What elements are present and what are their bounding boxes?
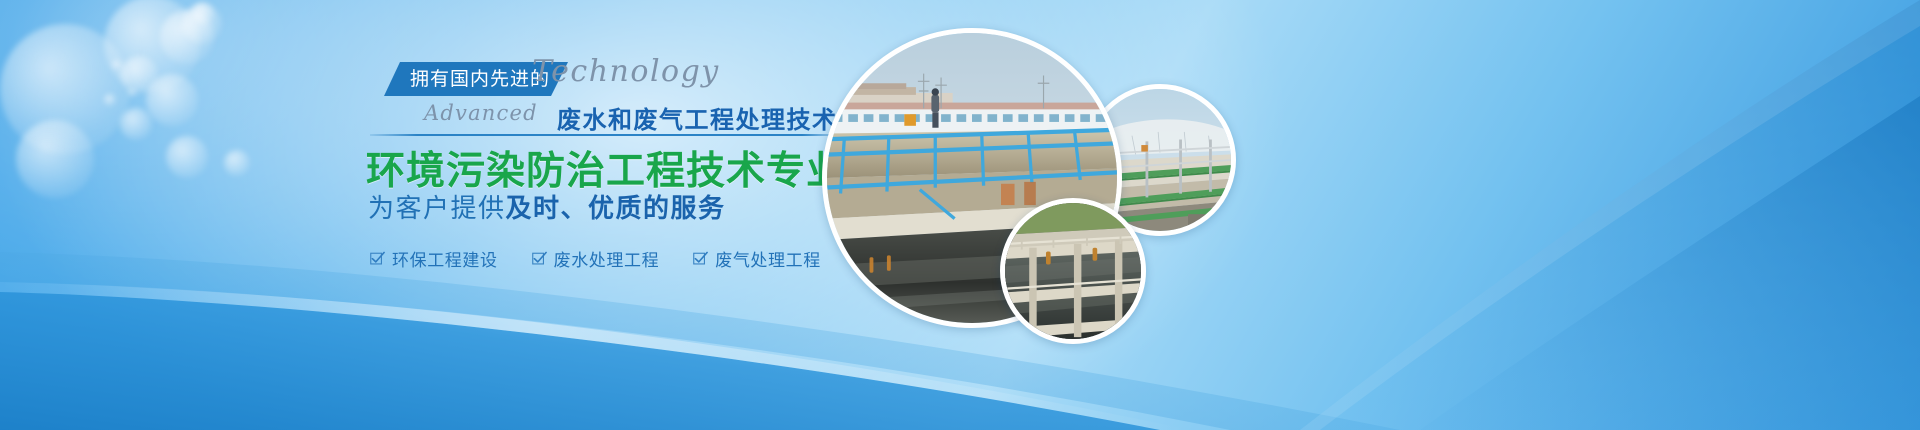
technology-script-word: Technology: [532, 54, 720, 89]
bokeh-bubble: [112, 60, 122, 70]
advanced-row: Advanced 废水和废气工程处理技术: [352, 98, 852, 134]
checkbox-check-icon: [532, 251, 547, 266]
promo-banner: 拥有国内先进的 Technology Advanced 废水和废气工程处理技术 …: [0, 0, 1920, 430]
feature-item-label: 环保工程建设: [392, 246, 498, 271]
bokeh-bubble: [182, 4, 222, 44]
bokeh-bubble: [224, 150, 250, 176]
bokeh-bubble: [166, 136, 208, 178]
feature-item-2[interactable]: 废水处理工程: [532, 246, 660, 271]
bokeh-bubble: [146, 74, 198, 126]
feature-item-label: 废气处理工程: [715, 246, 821, 271]
bokeh-bubble: [120, 108, 152, 140]
subtitle-prefix: 为客户提供: [368, 194, 506, 224]
subtitle-emphasis: 及时、优质的服务: [506, 194, 726, 224]
checkbox-check-icon: [693, 251, 708, 266]
bokeh-bubble: [16, 120, 94, 198]
feature-item-3[interactable]: 废气处理工程: [693, 246, 821, 271]
bokeh-bubble: [120, 56, 158, 94]
bokeh-bubble: [128, 88, 137, 97]
bokeh-bubble: [160, 10, 214, 64]
aeration-photo-art: [1005, 203, 1141, 339]
aeration-tank-photo: [1000, 198, 1146, 344]
banner-text-block: 拥有国内先进的 Technology Advanced 废水和废气工程处理技术 …: [352, 54, 852, 304]
bokeh-bubble: [192, 2, 214, 24]
horizontal-divider: [370, 134, 840, 136]
advanced-script-word: Advanced: [424, 101, 538, 125]
feature-list: 环保工程建设废水处理工程废气处理工程: [370, 246, 821, 271]
feature-item-label: 废水处理工程: [554, 246, 660, 271]
bokeh-bubble: [0, 24, 130, 154]
worker-figure: [931, 88, 939, 127]
banner-subtitle: 为客户提供及时、优质的服务: [368, 188, 726, 225]
bokeh-bubble: [104, 94, 116, 106]
advanced-subtitle-cn: 废水和废气工程处理技术: [557, 100, 838, 135]
feature-item-1[interactable]: 环保工程建设: [370, 246, 498, 271]
badge-row: 拥有国内先进的 Technology: [352, 54, 852, 96]
checkbox-check-icon: [370, 251, 385, 266]
bokeh-bubble: [104, 0, 200, 92]
